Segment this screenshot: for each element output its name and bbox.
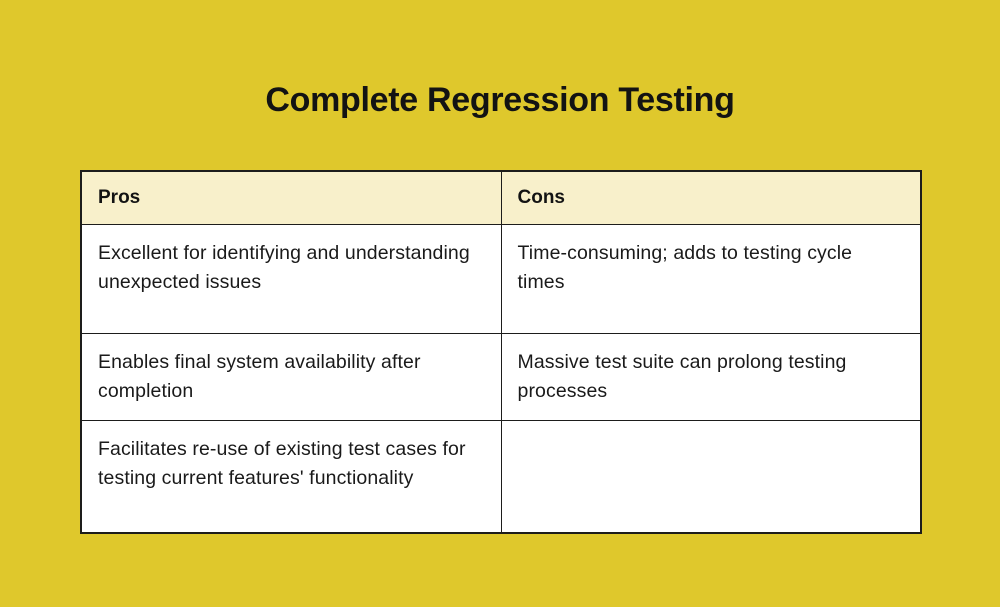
column-header-cons: Cons [501, 171, 921, 225]
column-header-pros: Pros [81, 171, 501, 225]
cell-pros-1: Excellent for identifying and understand… [81, 225, 501, 334]
pros-cons-table-container: Pros Cons Excellent for identifying and … [80, 170, 920, 534]
cell-pros-3: Facilitates re-use of existing test case… [81, 421, 501, 533]
slide-canvas: Complete Regression Testing Pros Cons Ex… [0, 0, 1000, 607]
table-row: Facilitates re-use of existing test case… [81, 421, 921, 533]
cell-cons-1: Time-consuming; adds to testing cycle ti… [501, 225, 921, 334]
table-row: Enables final system availability after … [81, 334, 921, 421]
pros-cons-table: Pros Cons Excellent for identifying and … [80, 170, 922, 534]
cell-cons-2: Massive test suite can prolong testing p… [501, 334, 921, 421]
page-title: Complete Regression Testing [0, 78, 1000, 122]
cell-cons-3 [501, 421, 921, 533]
table-header: Pros Cons [81, 171, 921, 225]
cell-pros-2: Enables final system availability after … [81, 334, 501, 421]
table-row: Excellent for identifying and understand… [81, 225, 921, 334]
table-body: Excellent for identifying and understand… [81, 225, 921, 533]
table-header-row: Pros Cons [81, 171, 921, 225]
